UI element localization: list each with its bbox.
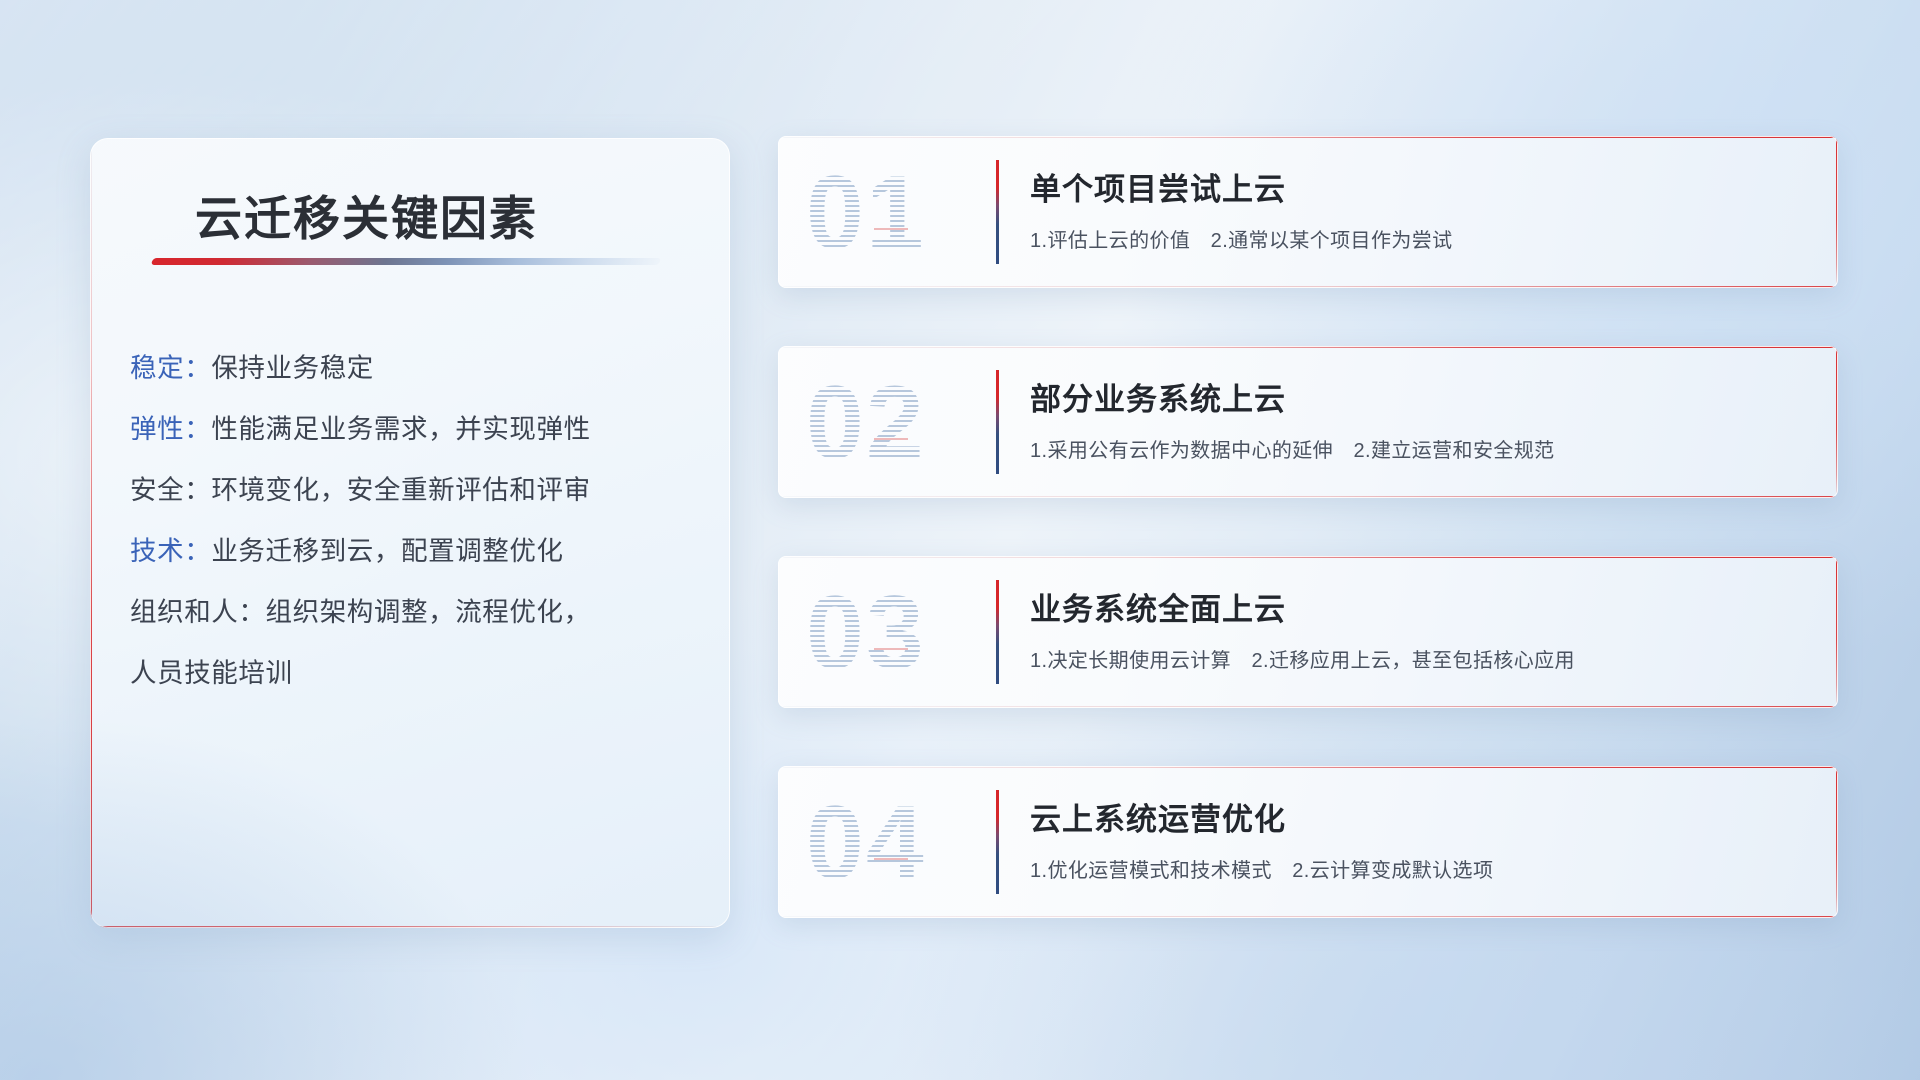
card-top-accent [778,766,1838,768]
factor-label: 弹性： [130,414,211,444]
card-number-watermark: 03 [806,570,996,696]
card-title: 云上系统运营优化 [1030,794,1286,839]
card-border [778,766,1838,918]
list-item: 技术：业务迁移到云，配置调整优化 [130,521,690,582]
card-bottom-accent [778,286,1838,288]
factor-label: 稳定： [130,353,211,383]
list-item: 安全：环境变化，安全重新评估和评审 [130,460,690,521]
card-border [778,346,1838,498]
factor-value: 人员技能培训 [130,658,293,688]
factor-value: 组织架构调整，流程优化， [266,597,591,627]
list-item: 弹性：性能满足业务需求，并实现弹性 [130,399,690,460]
card-description: 1.评估上云的价值 2.通常以某个项目作为尝试 [1030,224,1453,253]
factor-value: 业务迁移到云，配置调整优化 [211,536,563,566]
card-number-watermark: 04 [806,780,996,906]
card-right-accent [1836,136,1838,288]
panel-left-accent-line [90,138,92,928]
card-title: 业务系统全面上云 [1030,584,1286,629]
card-accent-bar [996,790,999,894]
panel-bottom-accent-line [90,926,730,928]
card-title: 部分业务系统上云 [1030,374,1286,419]
factor-value: 保持业务稳定 [211,353,374,383]
card-bottom-accent [778,916,1838,918]
card-number-watermark: 02 [806,360,996,486]
card-right-accent [1836,766,1838,918]
card-title: 单个项目尝试上云 [1030,164,1286,209]
stage-card-04[interactable]: 04 云上系统运营优化 1.优化运营模式和技术模式 2.云计算变成默认选项 [778,766,1838,918]
card-bottom-accent [778,706,1838,708]
card-description: 1.优化运营模式和技术模式 2.云计算变成默认选项 [1030,854,1493,883]
key-factors-list: 稳定：保持业务稳定 弹性：性能满足业务需求，并实现弹性 安全：环境变化，安全重新… [130,338,690,704]
card-top-accent [778,556,1838,558]
factor-value: 环境变化，安全重新评估和评审 [211,475,590,505]
list-item: 组织和人：组织架构调整，流程优化， [130,582,690,643]
card-right-accent [1836,346,1838,498]
factor-label: 组织和人： [130,597,266,627]
card-number-speck [874,228,908,230]
card-right-accent [1836,556,1838,708]
card-description: 1.采用公有云作为数据中心的延伸 2.建立运营和安全规范 [1030,434,1555,463]
list-item-continuation: 人员技能培训 [130,643,690,704]
card-accent-bar [996,580,999,684]
factor-label: 技术： [130,536,211,566]
card-border [778,136,1838,288]
card-number-speck [874,438,908,440]
card-accent-bar [996,160,999,264]
stage-cards-list: 01 单个项目尝试上云 1.评估上云的价值 2.通常以某个项目作为尝试 02 部… [778,136,1838,976]
card-accent-bar [996,370,999,474]
stage-card-02[interactable]: 02 部分业务系统上云 1.采用公有云作为数据中心的延伸 2.建立运营和安全规范 [778,346,1838,498]
card-number-watermark: 01 [806,150,996,276]
title-underline-gradient [151,258,662,265]
list-item: 稳定：保持业务稳定 [130,338,690,399]
card-description: 1.决定长期使用云计算 2.迁移应用上云，甚至包括核心应用 [1030,644,1575,673]
stage-card-03[interactable]: 03 业务系统全面上云 1.决定长期使用云计算 2.迁移应用上云，甚至包括核心应… [778,556,1838,708]
key-factors-panel: 云迁移关键因素 稳定：保持业务稳定 弹性：性能满足业务需求，并实现弹性 安全：环… [90,138,730,928]
card-top-accent [778,346,1838,348]
card-border [778,556,1838,708]
card-top-accent [778,136,1838,138]
slide-canvas: 云迁移关键因素 稳定：保持业务稳定 弹性：性能满足业务需求，并实现弹性 安全：环… [0,0,1920,1080]
factor-label: 安全： [130,475,211,505]
page-title: 云迁移关键因素 [195,180,538,249]
factor-value: 性能满足业务需求，并实现弹性 [211,414,590,444]
card-number-speck [874,858,908,860]
stage-card-01[interactable]: 01 单个项目尝试上云 1.评估上云的价值 2.通常以某个项目作为尝试 [778,136,1838,288]
card-number-speck [874,648,908,650]
card-bottom-accent [778,496,1838,498]
